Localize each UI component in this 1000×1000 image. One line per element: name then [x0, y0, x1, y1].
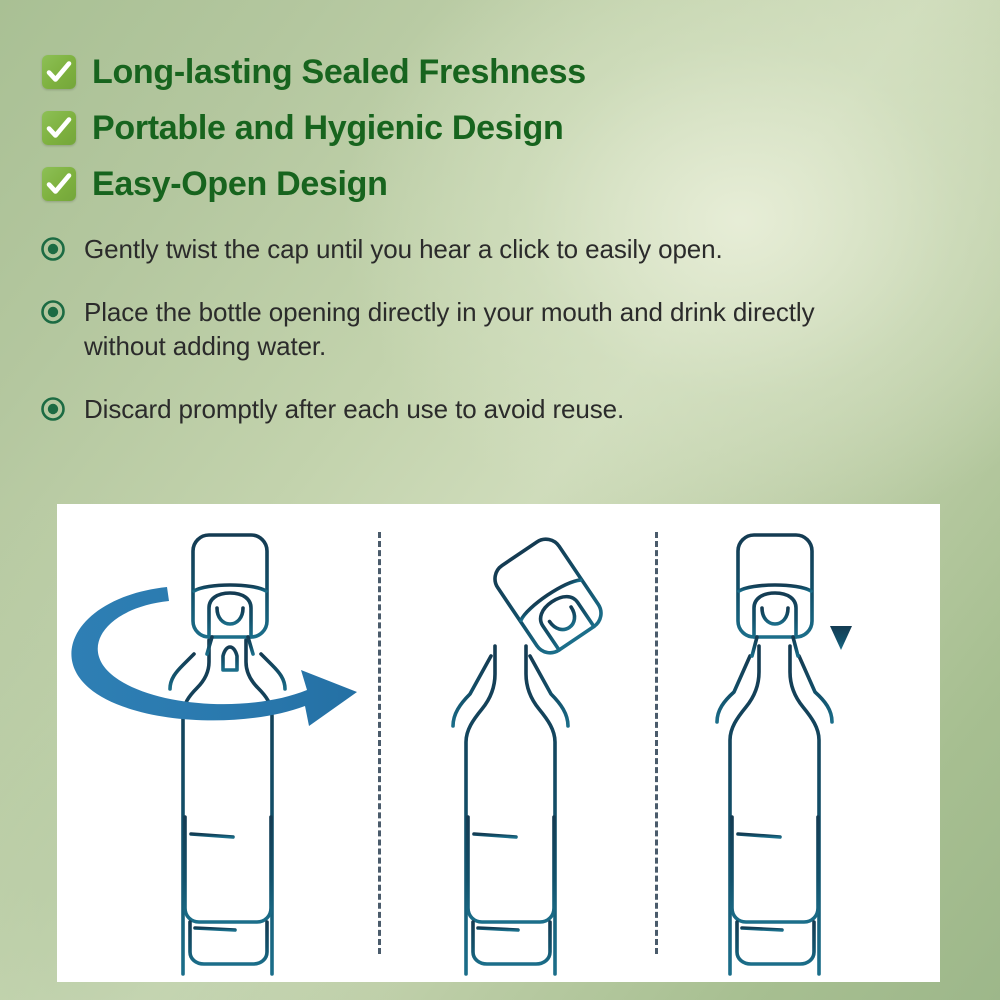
- feature-item: Portable and Hygienic Design: [42, 100, 862, 156]
- instruction-item: Gently twist the cap until you hear a cl…: [40, 232, 830, 267]
- infographic-page: Long-lasting Sealed Freshness Portable a…: [0, 0, 1000, 1000]
- radio-bullet-icon: [40, 396, 66, 422]
- instruction-list: Gently twist the cap until you hear a cl…: [40, 232, 830, 426]
- replace-cap-step: [655, 504, 940, 982]
- bottle-cap-icon: [738, 535, 812, 656]
- bottle-outline: [170, 640, 285, 974]
- feature-item: Long-lasting Sealed Freshness: [42, 44, 862, 100]
- bottle-outline: [453, 646, 568, 974]
- down-arrow-icon: [830, 584, 852, 650]
- bottle-outline: [717, 646, 832, 974]
- check-square-icon: [42, 111, 76, 145]
- twist-cap-step: [57, 504, 378, 982]
- feature-list: Long-lasting Sealed Freshness Portable a…: [42, 44, 862, 212]
- instruction-text: Place the bottle opening directly in you…: [84, 295, 830, 364]
- instruction-text: Discard promptly after each use to avoid…: [84, 392, 624, 427]
- check-square-icon: [42, 167, 76, 201]
- instruction-item: Place the bottle opening directly in you…: [40, 295, 830, 364]
- feature-label: Portable and Hygienic Design: [92, 111, 564, 145]
- instruction-text: Gently twist the cap until you hear a cl…: [84, 232, 723, 267]
- radio-bullet-icon: [40, 236, 66, 262]
- feature-label: Long-lasting Sealed Freshness: [92, 55, 586, 89]
- illustration-panel: [57, 504, 940, 982]
- feature-label: Easy-Open Design: [92, 167, 388, 201]
- feature-item: Easy-Open Design: [42, 156, 862, 212]
- remove-cap-step: [378, 504, 655, 982]
- tilted-cap-icon: [489, 533, 607, 659]
- bottle-cap-icon: [193, 535, 267, 670]
- instruction-item: Discard promptly after each use to avoid…: [40, 392, 830, 427]
- radio-bullet-icon: [40, 299, 66, 325]
- check-square-icon: [42, 55, 76, 89]
- rotate-arrow-icon: [71, 587, 357, 726]
